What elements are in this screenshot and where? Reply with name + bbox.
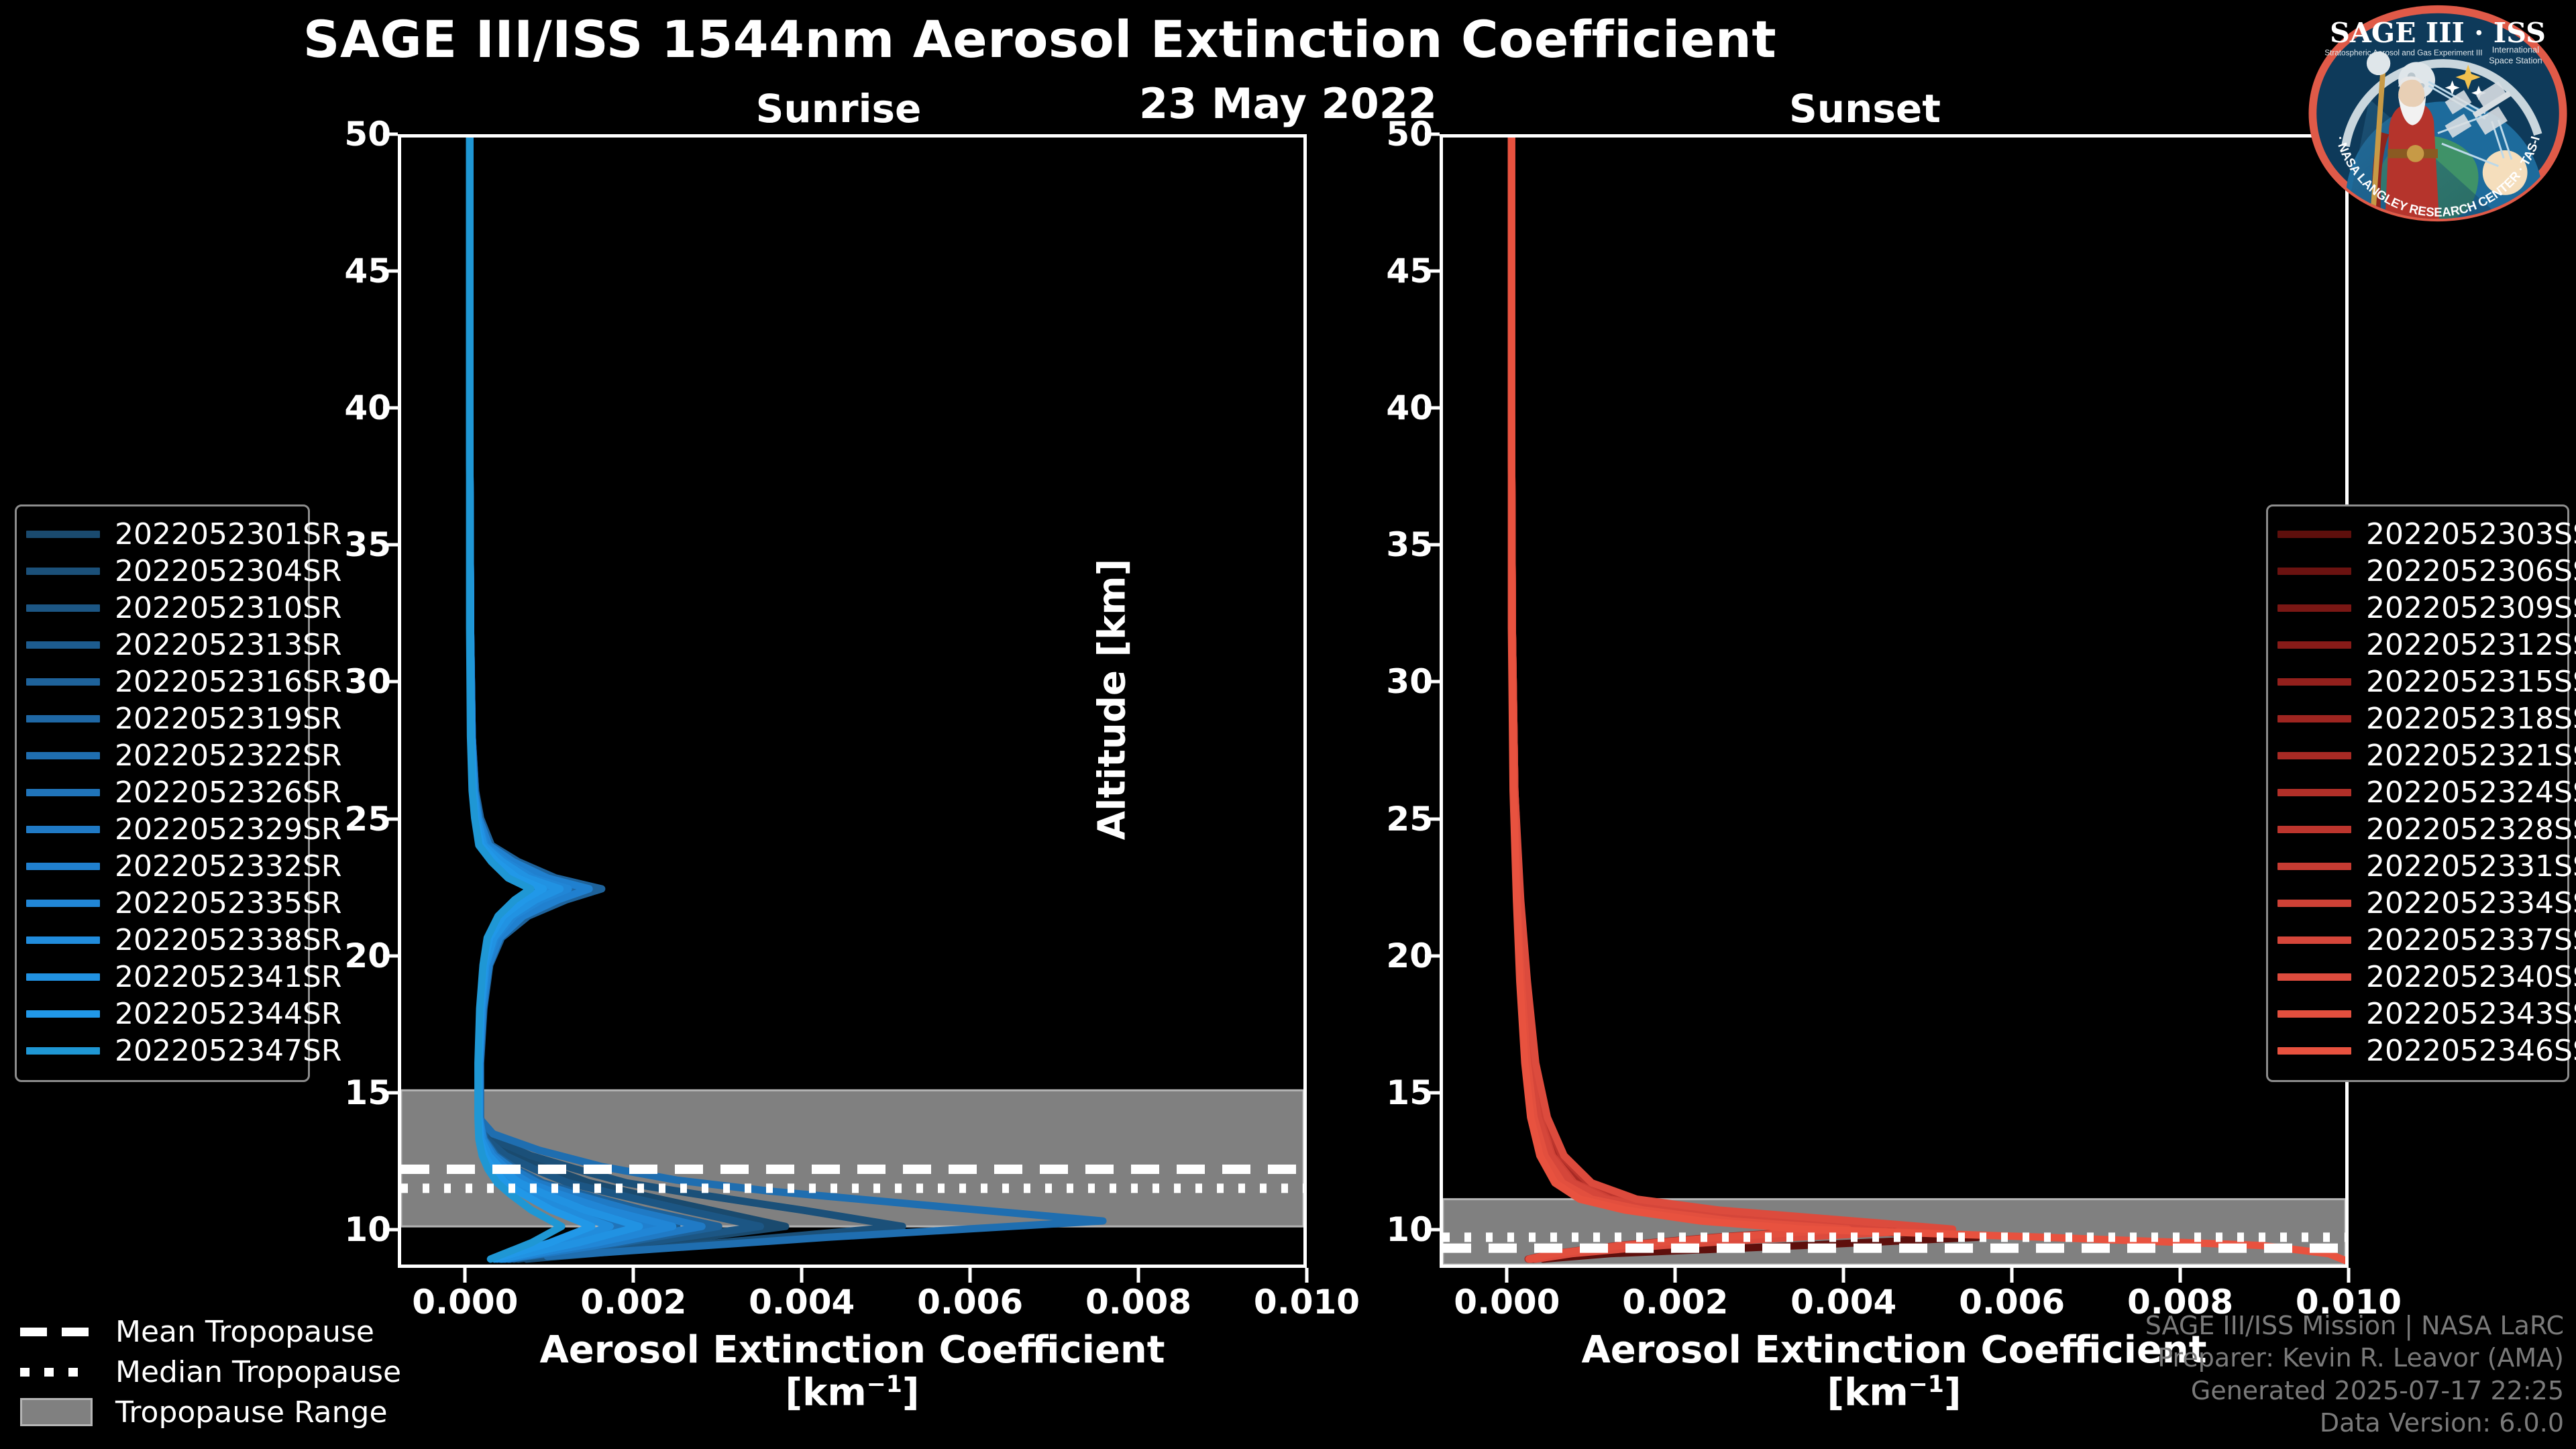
page-title: SAGE III/ISS 1544nm Aerosol Extinction C… <box>0 9 2080 69</box>
legend-item[interactable]: 2022052313SR <box>26 627 294 663</box>
legend-item-label: 2022052341SR <box>115 960 341 994</box>
legend-color-swatch <box>26 531 100 538</box>
legend-color-swatch <box>26 1047 100 1055</box>
series-line <box>1511 138 1953 1259</box>
filled-band-icon <box>20 1398 93 1426</box>
legend-color-swatch <box>2277 604 2351 612</box>
legend-item-label: 2022052313SR <box>115 628 341 662</box>
plot-area-sunset <box>1440 134 2349 1268</box>
credit-line: SAGE III/ISS Mission | NASA LaRC <box>2145 1309 2564 1342</box>
y-tick-mark <box>383 680 398 684</box>
legend-color-swatch <box>26 863 100 870</box>
legend-item[interactable]: 2022052343SS <box>2277 996 2554 1032</box>
series-line <box>1511 138 1861 1259</box>
y-tick-mark <box>383 133 398 136</box>
x-tick-mark <box>1505 1268 1509 1283</box>
legend-item-label: 2022052301SR <box>115 517 341 551</box>
legend-item-label: 2022052338SR <box>115 923 341 957</box>
legend-color-swatch <box>26 678 100 686</box>
x-axis-title-sunrise: Aerosol Extinction Coefficient [km−1] <box>398 1330 1307 1414</box>
plot-area-sunrise <box>398 134 1307 1268</box>
x-tick-label: 0.002 <box>1622 1283 1728 1322</box>
legend-item[interactable]: 2022052340SS <box>2277 959 2554 996</box>
y-tick-mark <box>1425 1228 1440 1231</box>
legend-item[interactable]: 2022052322SR <box>26 737 294 774</box>
series-line <box>1511 138 1894 1259</box>
series-line <box>1511 138 1936 1259</box>
x-tick-mark <box>969 1268 972 1283</box>
legend-item[interactable]: 2022052306SS <box>2277 553 2554 590</box>
mission-patch-icon: SAGE III · ISS Stratospheric Aerosol and… <box>2305 3 2571 224</box>
legend-item[interactable]: 2022052337SS <box>2277 922 2554 959</box>
y-tick-mark <box>1425 270 1440 273</box>
legend-item-label: 2022052331SS <box>2366 849 2576 883</box>
y-tick-mark <box>1425 1091 1440 1094</box>
legend-sunrise[interactable]: 2022052301SR2022052304SR2022052310SR2022… <box>15 504 310 1082</box>
x-tick-label: 0.006 <box>1959 1283 2065 1322</box>
y-tick-mark <box>383 543 398 547</box>
x-tick-label: 0.000 <box>1454 1283 1560 1322</box>
legend-item-label: 2022052329SR <box>115 812 341 847</box>
y-tick-mark <box>1425 954 1440 957</box>
legend-item[interactable]: 2022052344SR <box>26 996 294 1032</box>
tropopause-legend-label: Median Tropopause <box>115 1355 401 1389</box>
x-tick-mark <box>1842 1268 1845 1283</box>
y-tick-mark <box>1425 133 1440 136</box>
sage-iii-iss-logo: SAGE III · ISS Stratospheric Aerosol and… <box>2305 3 2571 224</box>
legend-item[interactable]: 2022052321SS <box>2277 737 2554 774</box>
legend-item-label: 2022052309SS <box>2366 591 2576 625</box>
legend-color-swatch <box>2277 936 2351 944</box>
series-line <box>1511 138 1877 1259</box>
dashed-line-icon <box>20 1328 93 1336</box>
x-tick-mark <box>464 1268 467 1283</box>
figure-canvas: SAGE III/ISS 1544nm Aerosol Extinction C… <box>0 0 2576 1449</box>
legend-color-swatch <box>2277 900 2351 907</box>
series-line <box>1511 138 1911 1259</box>
legend-color-swatch <box>26 641 100 649</box>
series-canvas-sunset <box>1443 138 2345 1265</box>
legend-item-label: 2022052332SR <box>115 849 341 883</box>
legend-item-label: 2022052326SR <box>115 775 341 810</box>
legend-color-swatch <box>26 936 100 944</box>
credit-line: Preparer: Kevin R. Leavor (AMA) <box>2145 1342 2564 1375</box>
x-axis-ticks-sunset <box>1440 1268 2349 1283</box>
legend-item-label: 2022052303SS <box>2366 517 2576 551</box>
y-tick-mark <box>1425 407 1440 410</box>
legend-item-label: 2022052337SS <box>2366 923 2576 957</box>
x-axis-ticks-sunrise <box>398 1268 1307 1283</box>
legend-color-swatch <box>26 789 100 796</box>
x-tick-label: 0.000 <box>412 1283 518 1322</box>
y-tick-mark <box>383 407 398 410</box>
legend-item-label: 2022052316SR <box>115 665 341 699</box>
x-tick-label: 0.010 <box>1254 1283 1360 1322</box>
tropopause-legend-item[interactable]: Mean Tropopause <box>20 1311 396 1352</box>
legend-item-label: 2022052310SR <box>115 591 341 625</box>
x-tick-label: 0.006 <box>917 1283 1023 1322</box>
legend-item[interactable]: 2022052346SS <box>2277 1032 2554 1069</box>
x-tick-mark <box>632 1268 635 1283</box>
x-tick-mark <box>1674 1268 1677 1283</box>
legend-color-swatch <box>2277 531 2351 538</box>
legend-item[interactable]: 2022052312SS <box>2277 627 2554 663</box>
legend-item-label: 2022052321SS <box>2366 739 2576 773</box>
legend-item[interactable]: 2022052304SR <box>26 553 294 590</box>
legend-color-swatch <box>2277 973 2351 981</box>
legend-sunset[interactable]: 2022052303SS2022052306SS2022052309SS2022… <box>2266 504 2569 1082</box>
panel-title-sunrise: Sunrise <box>402 86 1275 131</box>
x-tick-mark <box>1137 1268 1140 1283</box>
legend-color-swatch <box>2277 678 2351 686</box>
patch-subtitle-right-1: International <box>2492 45 2539 55</box>
tropopause-legend-key <box>20 1398 101 1426</box>
legend-color-swatch <box>2277 715 2351 722</box>
tropopause-legend-item[interactable]: Median Tropopause <box>20 1352 396 1392</box>
series-line <box>1511 138 2345 1260</box>
series-line <box>1511 138 1978 1259</box>
legend-color-swatch <box>2277 826 2351 833</box>
patch-title: SAGE III · ISS <box>2330 16 2546 49</box>
y-axis-labels-sunrise: 101520253035404550 <box>311 134 391 1268</box>
y-tick-mark <box>1425 543 1440 547</box>
y-tick-mark <box>383 270 398 273</box>
legend-color-swatch <box>26 715 100 722</box>
x-tick-mark <box>2179 1268 2182 1283</box>
legend-color-swatch <box>26 973 100 981</box>
x-tick-mark <box>2347 1268 2351 1283</box>
x-tick-mark <box>1305 1268 1309 1283</box>
legend-color-swatch <box>2277 1047 2351 1055</box>
credit-block: SAGE III/ISS Mission | NASA LaRCPreparer… <box>2145 1309 2564 1440</box>
y-axis-ticks-sunrise <box>383 134 398 1268</box>
legend-item[interactable]: 2022052316SR <box>26 663 294 700</box>
legend-item[interactable]: 2022052310SR <box>26 590 294 627</box>
series-line <box>1511 138 1869 1259</box>
legend-color-swatch <box>26 900 100 907</box>
legend-color-swatch <box>2277 752 2351 759</box>
series-line <box>1511 138 1835 1259</box>
y-tick-mark <box>383 954 398 957</box>
tropopause-legend-key <box>20 1368 101 1377</box>
legend-color-swatch <box>2277 641 2351 649</box>
legend-item[interactable]: 2022052319SR <box>26 700 294 737</box>
legend-item[interactable]: 2022052309SS <box>2277 590 2554 627</box>
legend-item-label: 2022052346SS <box>2366 1034 2576 1068</box>
y-tick-mark <box>383 1091 398 1094</box>
y-tick-mark <box>383 1228 398 1231</box>
y-tick-mark <box>1425 817 1440 820</box>
x-tick-label: 0.008 <box>1085 1283 1191 1322</box>
y-tick-mark <box>383 817 398 820</box>
x-tick-mark <box>800 1268 804 1283</box>
legend-item-label: 2022052343SS <box>2366 997 2576 1031</box>
series-line <box>1511 138 1877 1259</box>
legend-item[interactable]: 2022052328SS <box>2277 811 2554 848</box>
legend-color-swatch <box>2277 568 2351 575</box>
legend-item[interactable]: 2022052326SR <box>26 774 294 811</box>
legend-item[interactable]: 2022052301SR <box>26 516 294 553</box>
tropopause-legend-item[interactable]: Tropopause Range <box>20 1392 396 1432</box>
legend-item[interactable]: 2022052335SR <box>26 885 294 922</box>
legend-item[interactable]: 2022052329SR <box>26 811 294 848</box>
legend-item-label: 2022052312SS <box>2366 628 2576 662</box>
legend-item[interactable]: 2022052318SS <box>2277 700 2554 737</box>
series-line <box>1511 138 1911 1259</box>
plot-clip-sunset <box>1443 138 2345 1265</box>
series-line <box>1511 138 1848 1259</box>
legend-tropopause[interactable]: Mean TropopauseMedian TropopauseTropopau… <box>20 1311 396 1432</box>
x-axis-units-sunrise: [km−1] <box>398 1372 1307 1414</box>
x-tick-label: 0.004 <box>749 1283 855 1322</box>
series-canvas-sunrise <box>401 138 1303 1265</box>
legend-item[interactable]: 2022052334SS <box>2277 885 2554 922</box>
legend-item-label: 2022052306SS <box>2366 554 2576 588</box>
x-tick-label: 0.002 <box>580 1283 686 1322</box>
legend-item-label: 2022052340SS <box>2366 960 2576 994</box>
credit-line: Generated 2025-07-17 22:25 <box>2145 1375 2564 1407</box>
y-axis-labels-sunset: 101520253035404550 <box>1352 134 1433 1268</box>
legend-color-swatch <box>2277 863 2351 870</box>
y-axis-ticks-sunset <box>1425 134 1440 1268</box>
legend-item-label: 2022052344SR <box>115 997 341 1031</box>
legend-item-label: 2022052322SR <box>115 739 341 773</box>
plot-clip-sunrise <box>401 138 1303 1265</box>
legend-item[interactable]: 2022052315SS <box>2277 663 2554 700</box>
x-tick-label: 0.004 <box>1790 1283 1896 1322</box>
patch-subtitle-right-2: Space Station <box>2489 55 2542 65</box>
series-line <box>1511 138 1890 1259</box>
legend-item[interactable]: 2022052338SR <box>26 922 294 959</box>
legend-item-label: 2022052304SR <box>115 554 341 588</box>
legend-color-swatch <box>26 568 100 575</box>
legend-color-swatch <box>2277 789 2351 796</box>
series-line <box>1511 138 1884 1259</box>
legend-item[interactable]: 2022052331SS <box>2277 848 2554 885</box>
credit-line: Data Version: 6.0.0 <box>2145 1407 2564 1440</box>
x-axis-title-text-sunrise: Aerosol Extinction Coefficient <box>398 1330 1307 1372</box>
legend-item-label: 2022052324SS <box>2366 775 2576 810</box>
tropopause-legend-label: Mean Tropopause <box>115 1315 374 1349</box>
x-tick-mark <box>2010 1268 2014 1283</box>
panel-title-sunset: Sunset <box>1429 86 2301 131</box>
y-axis-title-sunset: Altitude [km] <box>1091 559 1134 841</box>
legend-color-swatch <box>26 752 100 759</box>
series-line <box>470 138 1103 1256</box>
legend-item-label: 2022052328SS <box>2366 812 2576 847</box>
legend-item[interactable]: 2022052324SS <box>2277 774 2554 811</box>
legend-color-swatch <box>26 826 100 833</box>
x-axis-labels-sunrise: 0.0000.0020.0040.0060.0080.010 <box>398 1283 1307 1330</box>
legend-item-label: 2022052334SS <box>2366 886 2576 920</box>
legend-color-swatch <box>2277 1010 2351 1018</box>
legend-item-label: 2022052335SR <box>115 886 341 920</box>
legend-item[interactable]: 2022052347SR <box>26 1032 294 1069</box>
dotted-line-icon <box>20 1368 93 1377</box>
legend-item-label: 2022052347SR <box>115 1034 341 1068</box>
y-tick-mark <box>1425 680 1440 684</box>
legend-item[interactable]: 2022052341SR <box>26 959 294 996</box>
legend-item-label: 2022052319SR <box>115 702 341 736</box>
tropopause-legend-label: Tropopause Range <box>115 1395 388 1430</box>
legend-item[interactable]: 2022052332SR <box>26 848 294 885</box>
legend-item[interactable]: 2022052303SS <box>2277 516 2554 553</box>
tropopause-legend-key <box>20 1328 101 1336</box>
patch-subtitle-left: Stratospheric Aerosol and Gas Experiment… <box>2324 49 2482 58</box>
legend-color-swatch <box>26 604 100 612</box>
legend-color-swatch <box>26 1010 100 1018</box>
legend-item-label: 2022052315SS <box>2366 665 2576 699</box>
legend-item-label: 2022052318SS <box>2366 702 2576 736</box>
